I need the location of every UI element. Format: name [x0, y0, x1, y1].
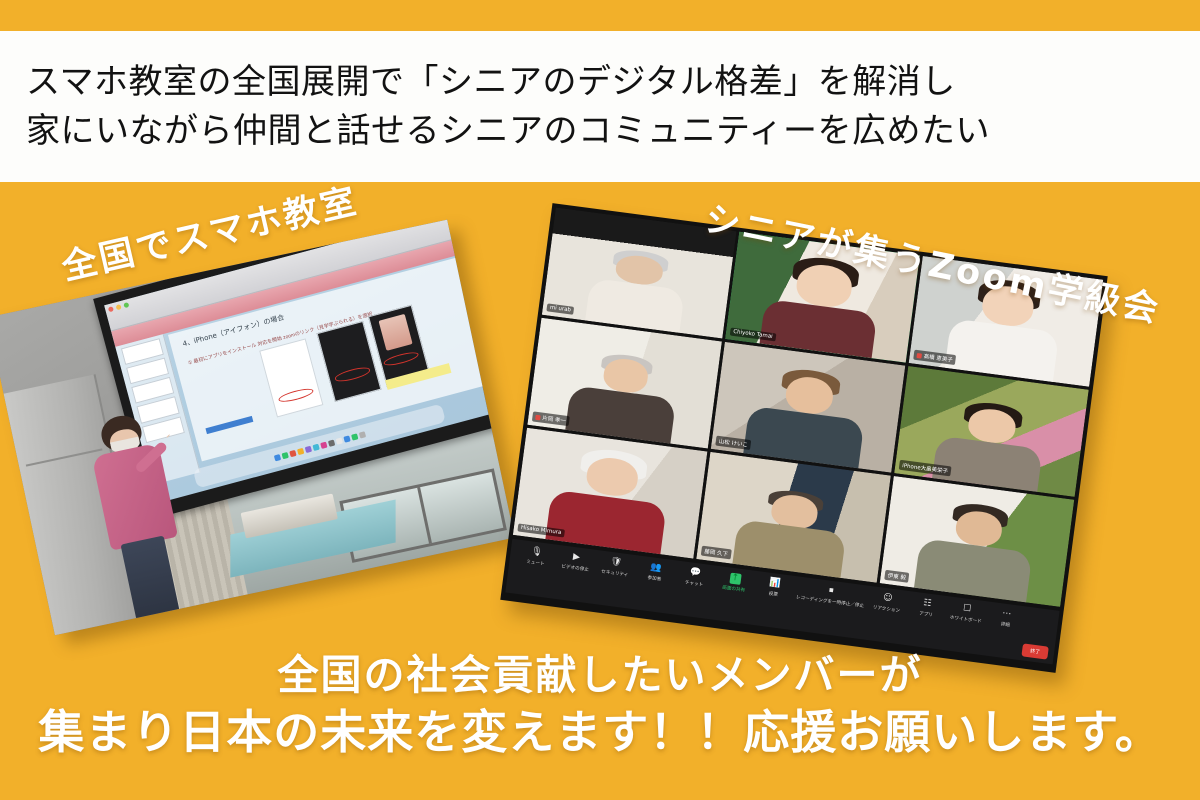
reaction-icon: ☺	[882, 593, 894, 605]
zoom-whiteboard-button[interactable]: ☐ ホワイトボード	[945, 601, 987, 625]
participant-name: mi urab	[549, 305, 571, 314]
whiteboard-icon: ☐	[961, 603, 973, 615]
zoom-share-screen-button[interactable]: ↑ 画面の共有	[713, 571, 755, 595]
video-camera-icon: ▶	[570, 552, 582, 564]
zoom-tile[interactable]: iPhone大畠美栄子	[894, 366, 1089, 497]
chat-bubble-icon: 💬	[689, 567, 701, 579]
instructor-body	[91, 442, 178, 551]
zoom-reactions-button[interactable]: ☺ リアクション	[866, 591, 908, 615]
zoom-security-button[interactable]: 🛡 セキュリティ	[594, 555, 636, 579]
headline-line-2: 家にいながら仲間と話せるシニアのコミュニティーを広めたい	[26, 107, 1200, 156]
apps-icon: ☷	[921, 598, 933, 610]
instructor-legs	[121, 536, 179, 620]
zoom-poll-label: 投票	[768, 591, 778, 598]
zoom-whiteboard-label: ホワイトボード	[949, 615, 982, 625]
shield-icon: 🛡	[610, 557, 622, 569]
zoom-reactions-label: リアクション	[872, 604, 900, 614]
instructor-arm	[134, 440, 168, 473]
zoom-share-screen-label: 画面の共有	[722, 585, 746, 594]
bottom-message-line-1: 全国の社会貢献したいメンバーが	[0, 648, 1200, 702]
bottom-message-line-2: 集まり日本の未来を変えます！！応援お願いします。	[0, 702, 1200, 762]
screen-share-icon: ↑	[729, 573, 741, 585]
slide-screenshot-a	[259, 338, 323, 416]
zoom-tile[interactable]: Hisako Mimura	[513, 428, 708, 559]
zoom-poll-button[interactable]: 📊 投票	[753, 576, 795, 600]
microphone-icon: 🎙	[531, 546, 543, 558]
headline-line-1: スマホ教室の全国展開で「シニアのデジタル格差」を解消し	[26, 58, 1200, 107]
zoom-tile[interactable]: 藤岡 久下	[696, 452, 891, 583]
instructor-hand	[167, 434, 170, 437]
zoom-tile[interactable]: 片岡 孝一	[527, 318, 722, 449]
zoom-more-button[interactable]: ⋯ 詳細	[985, 606, 1027, 630]
zoom-tile[interactable]: 伊東 毅	[880, 476, 1075, 607]
participant-name: 藤岡 久下	[704, 547, 729, 558]
window-controls	[108, 302, 130, 312]
recording-icon: ⏹	[825, 585, 837, 597]
participant-name: 伊東 毅	[887, 571, 906, 581]
zoom-participants-button[interactable]: 👥 参加者	[634, 560, 676, 584]
zoom-stop-video-label: ビデオの停止	[561, 563, 589, 573]
zoom-security-label: セキュリティ	[601, 569, 629, 579]
zoom-apps-label: アプリ	[919, 611, 933, 619]
ellipsis-icon: ⋯	[1001, 608, 1013, 620]
mic-muted-icon	[916, 353, 922, 359]
mic-muted-icon	[535, 414, 541, 420]
zoom-stop-video-button[interactable]: ▶ ビデオの停止	[555, 550, 597, 574]
zoom-more-label: 詳細	[1000, 621, 1010, 628]
zoom-chat-button[interactable]: 💬 チャット	[674, 565, 716, 589]
zoom-apps-button[interactable]: ☷ アプリ	[906, 596, 948, 620]
bottom-message: 全国の社会貢献したいメンバーが 集まり日本の未来を変えます！！応援お願いします。	[0, 648, 1200, 762]
poll-icon: 📊	[769, 578, 781, 590]
zoom-chat-label: チャット	[685, 580, 704, 588]
headline-banner: スマホ教室の全国展開で「シニアのデジタル格差」を解消し 家にいながら仲間と話せる…	[0, 31, 1200, 182]
participant-name: 片岡 孝一	[542, 414, 567, 425]
slide-screenshot-b	[316, 320, 381, 401]
zoom-participants-label: 参加者	[647, 575, 661, 583]
participants-icon: 👥	[650, 562, 662, 574]
zoom-tile[interactable]: 山松 けいこ	[711, 342, 906, 473]
zoom-mute-label: ミュート	[526, 559, 545, 567]
annotation-bar	[205, 415, 253, 434]
zoom-mute-button[interactable]: 🎙 ミュート	[515, 545, 557, 569]
zoom-recording-button[interactable]: ⏹ レコーディングを一時停止／停止	[793, 581, 869, 609]
